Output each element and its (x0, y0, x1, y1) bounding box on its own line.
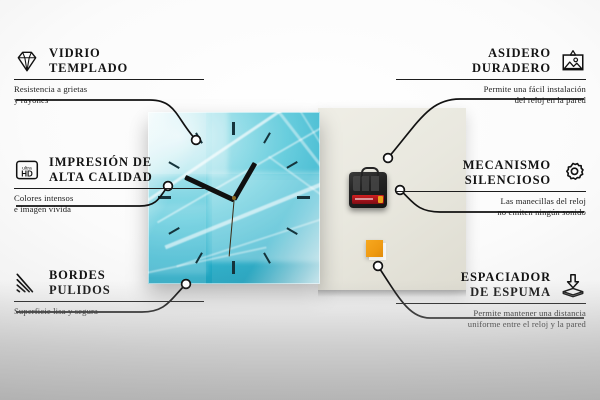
feature-bordes-pulidos: BORDES PULIDOS Superficie lisa y segura (14, 268, 204, 317)
feature-desc: Superficie lisa y segura (14, 306, 204, 317)
feature-asidero-duradero: ASIDERO DURADERO Permite una fácil insta… (396, 46, 586, 105)
divider (14, 79, 204, 80)
feature-desc-2: uniforme entre el reloj y la pared (396, 319, 586, 330)
divider (14, 188, 204, 189)
feature-impresion-alta-calidad: ultra HD IMPRESIÓN DE ALTA CALIDAD Color… (14, 155, 204, 214)
gear-icon (560, 160, 586, 186)
feature-title-2: SILENCIOSO (463, 173, 551, 188)
divider (396, 79, 586, 80)
feature-mecanismo-silencioso: MECANISMO SILENCIOSO Las manecillas del … (396, 158, 586, 217)
feature-desc: Permite mantener una distancia (396, 308, 586, 319)
clock-tick (232, 122, 235, 135)
feature-desc: Resistencia a grietas (14, 84, 204, 95)
feature-title: ASIDERO (472, 46, 551, 61)
feature-vidrio-templado: VIDRIO TEMPLADO Resistencia a grietas y … (14, 46, 204, 105)
clock-mechanism (349, 172, 387, 208)
hanging-frame-icon (560, 48, 586, 74)
feature-title: ESPACIADOR (461, 270, 551, 285)
svg-text:HD: HD (21, 169, 33, 178)
feature-title-2: ALTA CALIDAD (49, 170, 153, 185)
clock-tick (297, 196, 310, 199)
battery (352, 195, 384, 204)
feature-title-2: DURADERO (472, 61, 551, 76)
diamond-icon (14, 48, 40, 74)
divider (396, 191, 586, 192)
feature-desc: Las manecillas del reloj (396, 196, 586, 207)
ultra-hd-icon: ultra HD (14, 157, 40, 183)
clock-tick (286, 161, 298, 169)
clock-tick (232, 261, 235, 274)
feature-title: VIDRIO (49, 46, 128, 61)
feature-title: BORDES (49, 268, 111, 283)
divider (396, 303, 586, 304)
feature-title-2: DE ESPUMA (461, 285, 551, 300)
feature-espaciador-de-espuma: ESPACIADOR DE ESPUMA Permite mantener un… (396, 270, 586, 329)
feature-title: MECANISMO (463, 158, 551, 173)
feature-desc: Permite una fácil instalación (396, 84, 586, 95)
foam-spacer (366, 240, 383, 257)
feature-desc-2: del reloj en la pared (396, 95, 586, 106)
feature-title-2: PULIDOS (49, 283, 111, 298)
divider (14, 301, 204, 302)
feature-desc-2: no emiten ningún sonido (396, 207, 586, 218)
feature-desc-2: y rayones (14, 95, 204, 106)
foam-spacer-icon (560, 272, 586, 298)
infographic-canvas: VIDRIO TEMPLADO Resistencia a grietas y … (0, 0, 600, 400)
feature-desc: Colores intensos (14, 193, 204, 204)
polished-edges-icon (14, 270, 40, 296)
feature-title-2: TEMPLADO (49, 61, 128, 76)
feature-title: IMPRESIÓN DE (49, 155, 153, 170)
feature-desc-2: e imagen vívida (14, 204, 204, 215)
mechanism-body-detail (353, 176, 383, 191)
clock-pivot (232, 196, 236, 200)
clock-tick (263, 132, 271, 144)
